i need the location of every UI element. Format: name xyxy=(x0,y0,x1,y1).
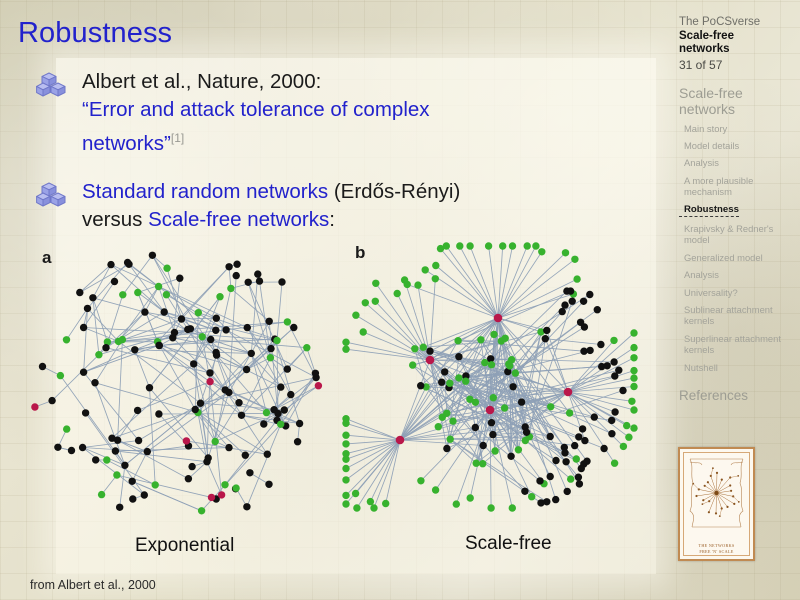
bullet-segment: (Erdős-Rényi) xyxy=(328,180,460,203)
sidebar-item-references[interactable]: References xyxy=(679,388,791,403)
bullet-list: Albert et al., Nature, 2000: “Error and … xyxy=(36,68,636,250)
sidebar-item-universality[interactable]: Universality? xyxy=(679,287,791,298)
bullet-segment: Albert et al., Nature, 2000: xyxy=(82,70,321,93)
bullet-segment: versus xyxy=(82,208,148,231)
sidebar-item-model-details[interactable]: Model details xyxy=(679,140,791,151)
sidebar-item-sublinear-attachment-kernels[interactable]: Sublinear attachment kernels xyxy=(679,304,791,327)
sidebar-item-analysis[interactable]: Analysis xyxy=(679,157,791,168)
bullet-segment-link[interactable]: networks” xyxy=(82,132,171,155)
sidebar-item-analysis[interactable]: Analysis xyxy=(679,269,791,280)
sidebar-item-main-story[interactable]: Main story xyxy=(679,123,791,134)
bullet-segment: : xyxy=(329,208,335,231)
bullet-line: networks”[1] xyxy=(82,124,636,158)
sidebar-current-wrap: Robustness xyxy=(679,198,791,217)
sidebar-deck-title-line1: Scale-free xyxy=(679,30,791,44)
sidebar: The PoCSverse Scale-free networks 31 of … xyxy=(679,16,791,403)
pocsverse-card-logo: THE NETWORKS FREE 'N' SCALE xyxy=(678,447,755,561)
source-note: from Albert et al., 2000 xyxy=(30,578,156,592)
bullet-line: versus Scale-free networks: xyxy=(82,206,636,234)
sidebar-item-nutshell[interactable]: Nutshell xyxy=(679,362,791,373)
slide-counter: 31 of 57 xyxy=(679,58,791,73)
panel-b-caption: Scale-free xyxy=(465,533,552,555)
sidebar-item-superlinear-attachment-kernels[interactable]: Superlinear attachment kernels xyxy=(679,333,791,356)
sidebar-section-heading[interactable]: Scale-free networks xyxy=(679,85,791,117)
bullet-segment-link[interactable]: Scale-free networks xyxy=(148,208,329,231)
cubes-icon xyxy=(36,182,66,208)
sidebar-brand: The PoCSverse xyxy=(679,16,791,30)
network-graph-scalefree xyxy=(340,240,640,530)
network-graph-exponential xyxy=(30,240,330,530)
card-network-illustration xyxy=(680,449,753,537)
bullet-line: Standard random networks (Erdős-Rényi) xyxy=(82,178,636,206)
footnote-marker: [1] xyxy=(171,131,184,145)
sidebar-item-krapivsky-redner-s-model[interactable]: Krapivsky & Redner's model xyxy=(679,223,791,246)
page-title: Robustness xyxy=(18,17,172,50)
sidebar-item-robustness[interactable]: Robustness xyxy=(679,204,739,217)
sidebar-item-generalized-model[interactable]: Generalized model xyxy=(679,252,791,263)
sidebar-item-a-more-plausible-mechanism[interactable]: A more plausible mechanism xyxy=(679,175,791,198)
panel-a-caption: Exponential xyxy=(135,535,234,557)
bullet-text-block: Standard random networks (Erdős-Rényi) v… xyxy=(82,178,636,234)
bullet-text-block: Albert et al., Nature, 2000: “Error and … xyxy=(82,68,636,158)
bullet-segment-link[interactable]: “Error and attack tolerance of complex xyxy=(82,98,430,121)
bullet-line: “Error and attack tolerance of complex xyxy=(82,96,636,124)
slide-canvas: Robustness xyxy=(0,0,800,600)
cubes-icon xyxy=(36,72,66,98)
list-item: Standard random networks (Erdős-Rényi) v… xyxy=(36,178,636,234)
bullet-line: Albert et al., Nature, 2000: xyxy=(82,68,636,96)
sidebar-item-list: Main storyModel detailsAnalysisA more pl… xyxy=(679,123,791,374)
card-caption: THE NETWORKS FREE 'N' SCALE xyxy=(680,543,753,555)
bullet-segment-link[interactable]: Standard random networks xyxy=(82,180,328,203)
sidebar-deck-title-line2: networks xyxy=(679,43,791,57)
network-figure: a b Exponential Scale-free xyxy=(30,240,650,565)
list-item: Albert et al., Nature, 2000: “Error and … xyxy=(36,68,636,158)
